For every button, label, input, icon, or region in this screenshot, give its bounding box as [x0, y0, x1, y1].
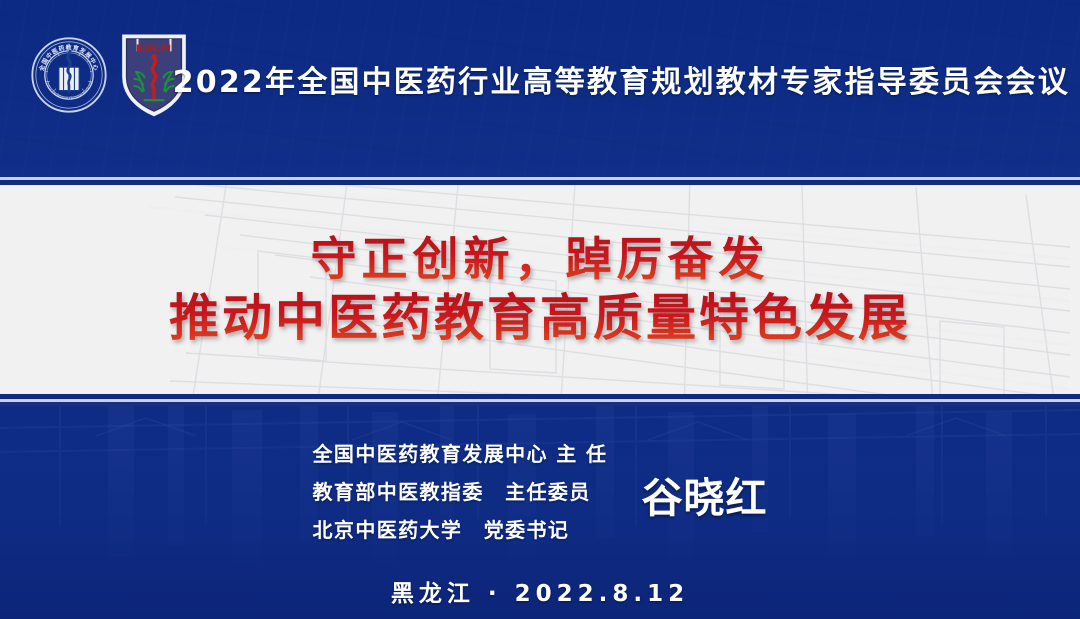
slide-footer-section: 全国中医药教育发展中心 主 任 教育部中医教指委 主任委员 北京中医药大学 党委…: [0, 406, 1080, 619]
china-tcm-education-seal-logo: · 全国中医药教育发展中心 China Traditional Chinese …: [30, 36, 108, 119]
credential-line: 全国中医药教育发展中心 主 任: [313, 438, 608, 467]
svg-text:BUCM: BUCM: [136, 43, 172, 54]
slide-header-banner: · 全国中医药教育发展中心 China Traditional Chinese …: [0, 0, 1080, 178]
speaker-credentials-list: 全国中医药教育发展中心 主 任 教育部中医教指委 主任委员 北京中医药大学 党委…: [313, 438, 608, 543]
main-title-line-1: 守正创新，踔厉奋发: [311, 232, 770, 286]
conference-title: 2022年全国中医药行业高等教育规划教材专家指导委员会会议: [258, 50, 1070, 108]
main-title-band: 守正创新，踔厉奋发 推动中医药教育高质量特色发展: [0, 185, 1080, 394]
presentation-slide: · 全国中医药教育发展中心 China Traditional Chinese …: [0, 0, 1080, 619]
title-text-group: 守正创新，踔厉奋发 推动中医药教育高质量特色发展: [0, 185, 1080, 394]
credential-line: 北京中医药大学 党委书记: [313, 514, 608, 543]
speaker-name: 谷晓红: [641, 464, 767, 524]
main-title-line-2: 推动中医药教育高质量特色发展: [169, 288, 911, 347]
credential-line: 教育部中医教指委 主任委员: [313, 476, 608, 505]
location-date-line: 黑龙江 · 2022.8.12: [0, 574, 1080, 608]
logo-group: · 全国中医药教育发展中心 China Traditional Chinese …: [30, 31, 190, 124]
speaker-info-block: 全国中医药教育发展中心 主 任 教育部中医教指委 主任委员 北京中医药大学 党委…: [0, 438, 1080, 543]
